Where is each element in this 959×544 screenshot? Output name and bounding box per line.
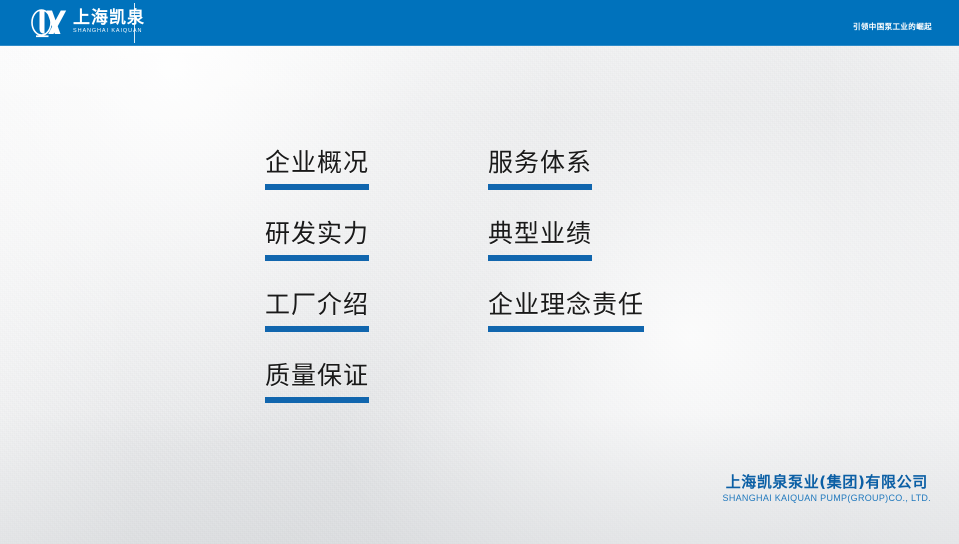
menu-item-label: 企业理念责任 xyxy=(488,290,644,320)
header-tagline: 引领中国泵工业的崛起 xyxy=(853,21,932,32)
menu-item-underline xyxy=(265,184,369,190)
menu-item-label: 质量保证 xyxy=(265,361,369,391)
menu-item-factory-introduction[interactable]: 工厂介绍 xyxy=(265,290,369,332)
kaiquan-k-monogram-icon xyxy=(26,6,68,40)
brand-logo[interactable]: 上海凯泉 SHANGHAI KAIQUAN xyxy=(26,5,145,41)
menu-item-service-system[interactable]: 服务体系 xyxy=(488,148,592,190)
menu-item-rd-strength[interactable]: 研发实力 xyxy=(265,219,369,261)
menu-item-company-overview[interactable]: 企业概况 xyxy=(265,148,369,190)
menu-item-quality-assurance[interactable]: 质量保证 xyxy=(265,361,369,403)
slide-menu: 企业概况 研发实力 工厂介绍 质量保证 服务体系 典型业绩 xyxy=(265,148,644,216)
slide-background-texture xyxy=(0,0,959,544)
menu-column-right: 服务体系 典型业绩 企业理念责任 xyxy=(488,148,644,216)
menu-column-left: 企业概况 研发实力 工厂介绍 质量保证 xyxy=(265,148,488,216)
menu-item-label: 研发实力 xyxy=(265,219,369,249)
footer-company-lockup: 上海凯泉泵业(集团)有限公司 SHANGHAI KAIQUAN PUMP(GRO… xyxy=(723,473,931,503)
menu-item-label: 工厂介绍 xyxy=(265,290,369,320)
menu-item-label: 服务体系 xyxy=(488,148,592,178)
menu-item-underline xyxy=(265,397,369,403)
presentation-slide: 上海凯泉 SHANGHAI KAIQUAN 引领中国泵工业的崛起 企业概况 研发… xyxy=(0,0,959,544)
menu-item-underline xyxy=(265,326,369,332)
menu-item-typical-performance[interactable]: 典型业绩 xyxy=(488,219,592,261)
menu-item-underline xyxy=(488,184,592,190)
menu-item-corporate-philosophy-responsibility[interactable]: 企业理念责任 xyxy=(488,290,644,332)
footer-company-name-cn: 上海凯泉泵业(集团)有限公司 xyxy=(723,473,931,491)
menu-item-label: 企业概况 xyxy=(265,148,369,178)
menu-item-label: 典型业绩 xyxy=(488,219,592,249)
menu-item-underline xyxy=(265,255,369,261)
menu-item-underline xyxy=(488,255,592,261)
header-logo-divider xyxy=(134,3,135,43)
footer-company-name-en: SHANGHAI KAIQUAN PUMP(GROUP)CO., LTD. xyxy=(723,493,931,503)
header-bar: 上海凯泉 SHANGHAI KAIQUAN 引领中国泵工业的崛起 xyxy=(0,0,959,46)
menu-item-underline xyxy=(488,326,644,332)
